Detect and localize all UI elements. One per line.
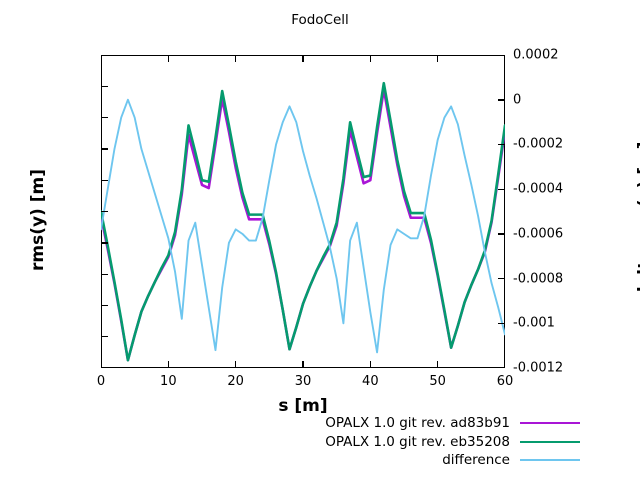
legend-item-label: OPALX 1.0 git rev. ad83b91 <box>325 415 520 431</box>
legend-item-label: OPALX 1.0 git rev. eb35208 <box>325 434 520 450</box>
y-axis-left-tick-mark <box>101 305 108 306</box>
y-axis-left-label: rms(y) [m] <box>28 120 48 320</box>
x-axis-tick-mark <box>437 361 438 368</box>
y-axis-left-tick-mark <box>101 117 108 118</box>
x-axis-tick-mark <box>437 55 438 62</box>
x-axis-tick-mark <box>168 361 169 368</box>
y-axis-right-tick-label: -0.0002 <box>513 137 563 152</box>
legend: OPALX 1.0 git rev. ad83b91 OPALX 1.0 git… <box>150 414 580 470</box>
x-axis-tick-label: 60 <box>497 374 514 389</box>
legend-swatch-line-1 <box>520 441 580 443</box>
x-axis-tick-mark <box>235 361 236 368</box>
x-axis-tick-label: 50 <box>429 374 446 389</box>
x-axis-tick-label: 40 <box>362 374 379 389</box>
x-axis-tick-label: 30 <box>295 374 312 389</box>
y-axis-right-tick-label: -0.0004 <box>513 182 563 197</box>
chart-page: FodoCell 00.0020.0040.0060.0080.010.0120… <box>0 0 640 480</box>
y-axis-left-tick-mark <box>101 180 108 181</box>
y-axis-right-tick-mark <box>498 144 505 145</box>
y-axis-right-tick-mark <box>498 99 505 100</box>
y-axis-right-tick-mark <box>498 233 505 234</box>
plot-canvas <box>101 55 505 368</box>
legend-item: OPALX 1.0 git rev. ad83b91 <box>150 414 580 433</box>
x-axis-tick-mark <box>235 55 236 62</box>
y-axis-right-tick-mark <box>498 278 505 279</box>
x-axis-label: s [m] <box>101 396 505 416</box>
legend-swatch-line-0 <box>520 422 580 424</box>
y-axis-right-tick-label: -0.0006 <box>513 226 563 241</box>
legend-swatch-line-2 <box>520 459 580 461</box>
legend-item: difference <box>150 451 580 470</box>
y-axis-left-tick-mark <box>101 242 108 243</box>
x-axis-tick-mark <box>168 55 169 62</box>
x-axis-tick-mark <box>370 55 371 62</box>
y-axis-right-tick-label: 0.0002 <box>513 48 559 63</box>
y-axis-left-tick-mark <box>101 211 108 212</box>
y-axis-right-tick-mark <box>498 323 505 324</box>
x-axis-tick-label: 0 <box>97 374 105 389</box>
y-axis-left-tick-mark <box>101 148 108 149</box>
series-line-0 <box>101 89 505 360</box>
x-axis-tick-label: 20 <box>227 374 244 389</box>
page-title: FodoCell <box>0 12 640 28</box>
y-axis-right-tick-label: -0.001 <box>513 316 555 331</box>
y-axis-right-tick-label: -0.0008 <box>513 271 563 286</box>
y-axis-left-tick-mark <box>101 336 108 337</box>
y-axis-right-tick-mark <box>498 189 505 190</box>
x-axis-tick-mark <box>370 361 371 368</box>
y-axis-right-label: delta rms(y) [m] <box>635 100 640 340</box>
y-axis-left-tick-mark <box>101 86 108 87</box>
x-axis-tick-mark <box>302 361 303 368</box>
legend-item: OPALX 1.0 git rev. eb35208 <box>150 433 580 452</box>
y-axis-right-tick-label: -0.0012 <box>513 361 563 376</box>
x-axis-tick-label: 10 <box>160 374 177 389</box>
legend-item-label: difference <box>442 452 520 468</box>
y-axis-right-tick-label: 0 <box>513 92 521 107</box>
y-axis-left-tick-mark <box>101 274 108 275</box>
x-axis-tick-mark <box>302 55 303 62</box>
